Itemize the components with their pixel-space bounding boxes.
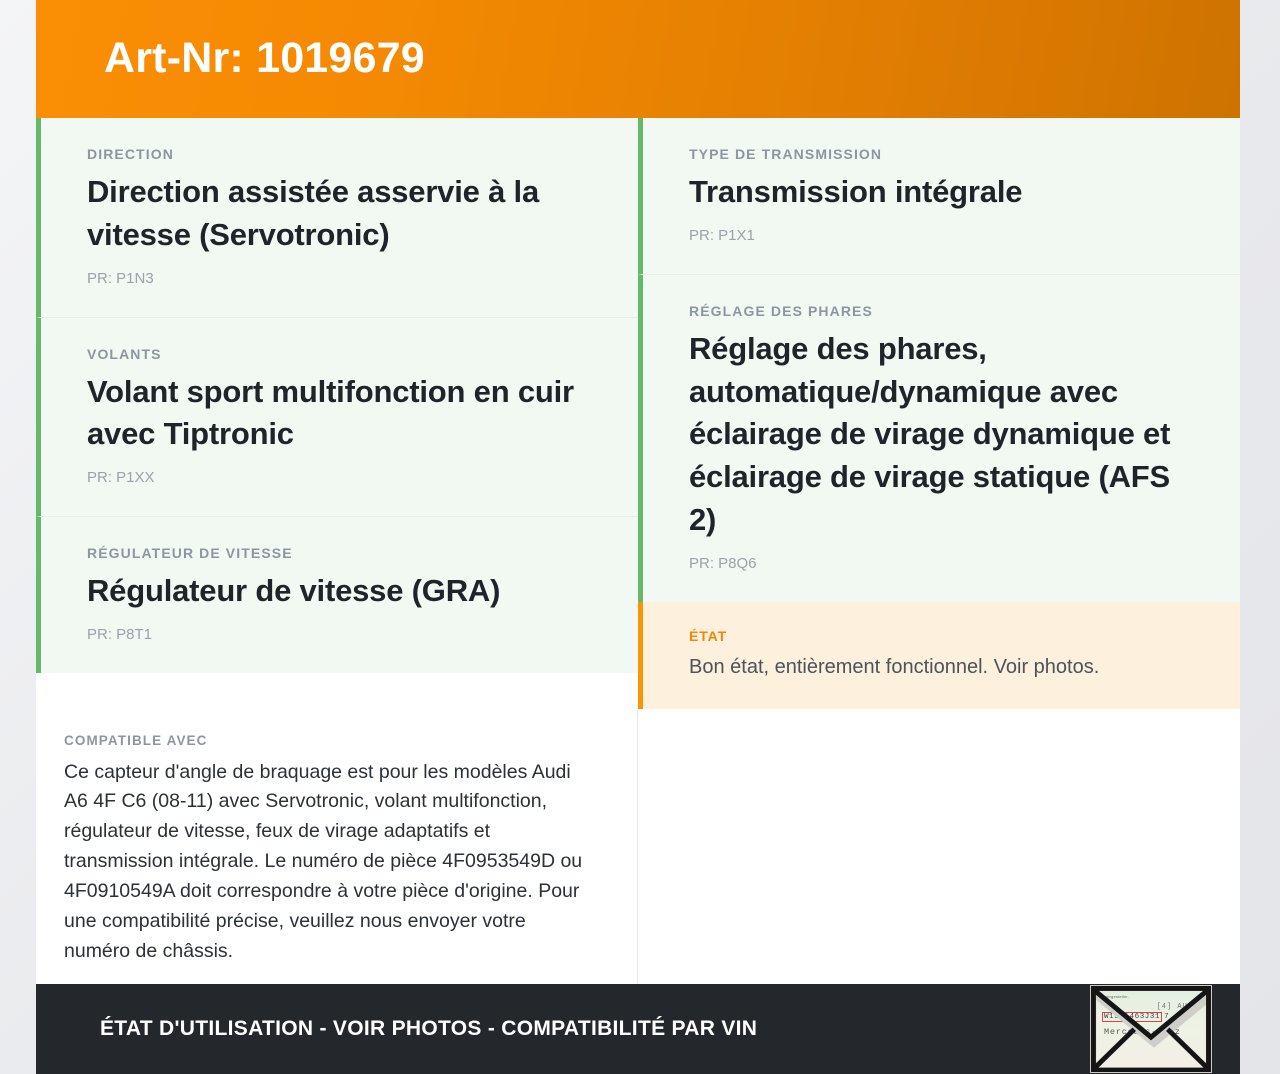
spec-value: Régulateur de vitesse (GRA) [87, 570, 592, 613]
footer-text: ÉTAT D'UTILISATION - VOIR PHOTOS - COMPA… [100, 1017, 757, 1041]
compatibility-spacer [638, 709, 1240, 984]
spec-pr-code: PR: P1X1 [689, 227, 1194, 244]
spec-column-left: DIRECTION Direction assistée asservie à … [36, 118, 638, 673]
spec-pr-code: PR: P8Q6 [689, 555, 1194, 572]
spec-card-volants[interactable]: VOLANTS Volant sport multifonction en cu… [36, 318, 638, 518]
condition-text: Bon état, entièrement fonctionnel. Voir … [689, 653, 1194, 681]
spec-label: VOLANTS [87, 346, 592, 362]
listing-card: Art-Nr: 1019679 DIRECTION Direction assi… [36, 0, 1240, 1074]
condition-label: ÉTAT [689, 628, 1194, 644]
spec-value: Réglage des phares, automatique/dynamiqu… [689, 328, 1194, 542]
spec-pr-code: PR: P8T1 [87, 626, 592, 643]
spec-label: RÉGLAGE DES PHARES [689, 303, 1194, 319]
compatibility-row: COMPATIBLE AVEC Ce capteur d'angle de br… [36, 709, 1240, 984]
spec-card-direction[interactable]: DIRECTION Direction assistée asservie à … [36, 118, 638, 318]
spec-label: RÉGULATEUR DE VITESSE [87, 545, 592, 561]
compatibility-text: Ce capteur d'angle de braquage est pour … [64, 758, 591, 967]
vin-envelope-thumbnail[interactable]: Fahrgestellnr. [4] AUD W1571463J31 7 Mer… [1090, 985, 1212, 1073]
spec-column-right: TYPE DE TRANSMISSION Transmission intégr… [638, 118, 1240, 709]
envelope-icon [1091, 986, 1211, 1073]
compatibility-label: COMPATIBLE AVEC [64, 733, 591, 748]
spec-value: Volant sport multifonction en cuir avec … [87, 371, 592, 457]
spec-value: Transmission intégrale [689, 171, 1194, 214]
condition-card[interactable]: ÉTAT Bon état, entièrement fonctionnel. … [638, 602, 1240, 709]
spec-card-reglage-des-phares[interactable]: RÉGLAGE DES PHARES Réglage des phares, a… [638, 275, 1240, 602]
spec-label: TYPE DE TRANSMISSION [689, 146, 1194, 162]
footer-bar: ÉTAT D'UTILISATION - VOIR PHOTOS - COMPA… [36, 984, 1240, 1074]
spec-card-regulateur-de-vitesse[interactable]: RÉGULATEUR DE VITESSE Régulateur de vite… [36, 517, 638, 673]
compatibility-section: COMPATIBLE AVEC Ce capteur d'angle de br… [36, 709, 638, 984]
spec-value: Direction assistée asservie à la vitesse… [87, 171, 592, 257]
spec-pr-code: PR: P1N3 [87, 270, 592, 287]
spec-columns: DIRECTION Direction assistée asservie à … [36, 118, 1240, 709]
spec-pr-code: PR: P1XX [87, 469, 592, 486]
spec-card-type-de-transmission[interactable]: TYPE DE TRANSMISSION Transmission intégr… [638, 118, 1240, 275]
header-bar: Art-Nr: 1019679 [36, 0, 1240, 118]
page-title: Art-Nr: 1019679 [36, 35, 425, 82]
spec-label: DIRECTION [87, 146, 592, 162]
